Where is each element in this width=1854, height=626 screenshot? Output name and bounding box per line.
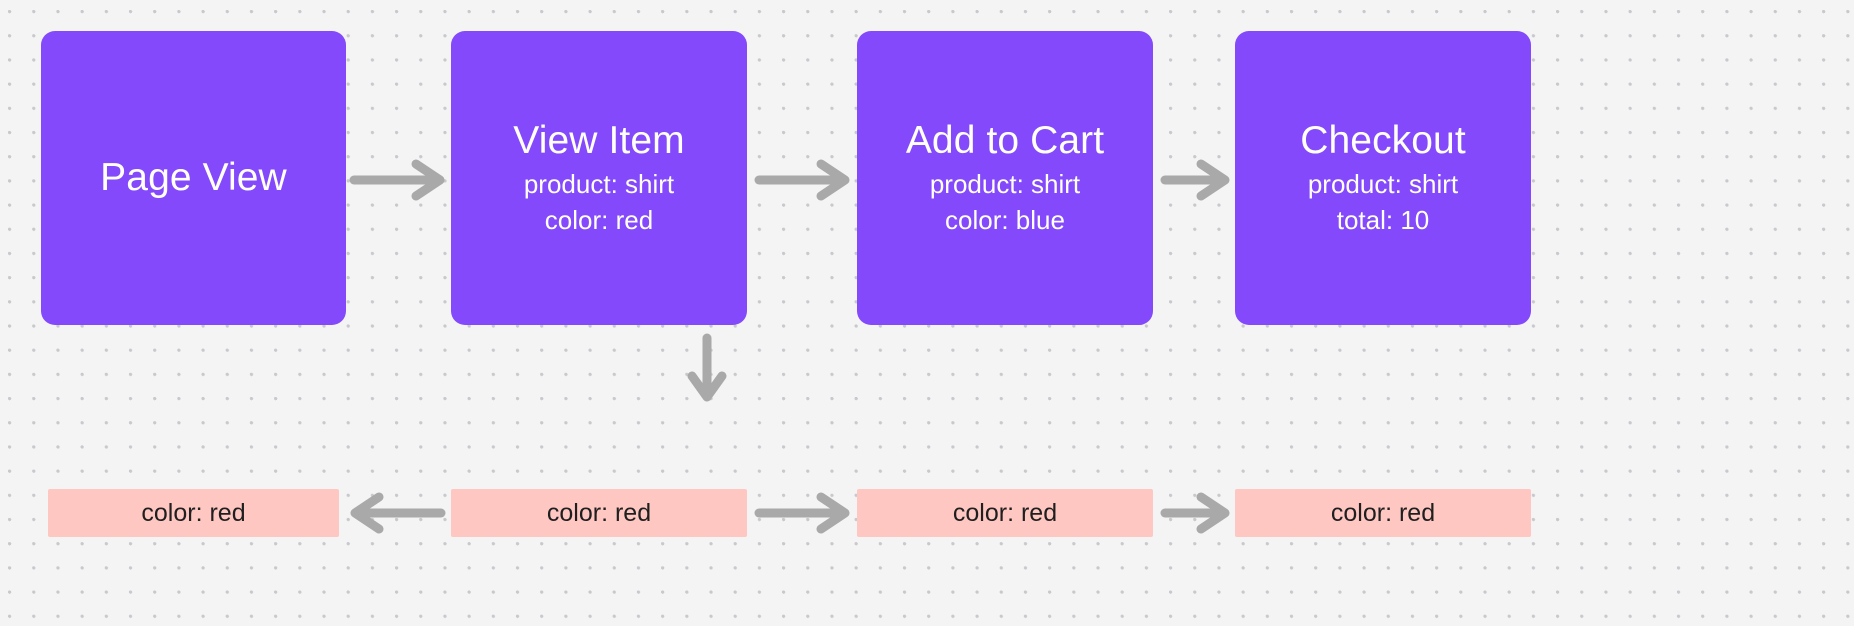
arrow-property-chip-2-to-property-chip-1 <box>348 493 443 533</box>
property-chip-2[interactable]: color: red <box>451 489 747 537</box>
event-node-add-to-cart[interactable]: Add to Cart product: shirt color: blue <box>857 31 1153 325</box>
arrow-property-chip-3-to-property-chip-4 <box>1163 493 1231 533</box>
event-node-checkout[interactable]: Checkout product: shirt total: 10 <box>1235 31 1531 325</box>
property-chip-3[interactable]: color: red <box>857 489 1153 537</box>
event-node-title: Page View <box>100 156 287 200</box>
event-attribute-color: color: blue <box>945 205 1065 236</box>
property-chip-label: color: red <box>547 501 651 526</box>
property-chip-label: color: red <box>1331 501 1435 526</box>
event-node-title: Add to Cart <box>906 119 1104 163</box>
event-node-view-item[interactable]: View Item product: shirt color: red <box>451 31 747 325</box>
event-attribute-color: color: red <box>545 205 653 236</box>
property-chip-4[interactable]: color: red <box>1235 489 1531 537</box>
arrow-view-item-to-add-to-cart <box>757 160 852 200</box>
event-attribute-product: product: shirt <box>930 169 1080 200</box>
event-node-title: View Item <box>513 119 684 163</box>
event-node-attributes: product: shirt color: red <box>524 169 674 236</box>
property-chip-label: color: red <box>953 501 1057 526</box>
arrow-add-to-cart-to-checkout <box>1163 160 1231 200</box>
diagram-canvas: Page View View Item product: shirt color… <box>0 0 1854 626</box>
event-node-page-view[interactable]: Page View <box>41 31 346 325</box>
event-attribute-product: product: shirt <box>524 169 674 200</box>
arrow-page-view-to-view-item <box>352 160 447 200</box>
property-chip-1[interactable]: color: red <box>48 489 339 537</box>
event-attribute-total: total: 10 <box>1337 205 1430 236</box>
event-node-title: Checkout <box>1300 119 1466 163</box>
property-chip-label: color: red <box>141 501 245 526</box>
event-node-attributes: product: shirt color: blue <box>930 169 1080 236</box>
arrow-property-chip-2-to-property-chip-3 <box>757 493 852 533</box>
event-node-attributes: product: shirt total: 10 <box>1308 169 1458 236</box>
event-attribute-product: product: shirt <box>1308 169 1458 200</box>
arrow-view-item-to-property-chip-2 <box>687 336 727 402</box>
